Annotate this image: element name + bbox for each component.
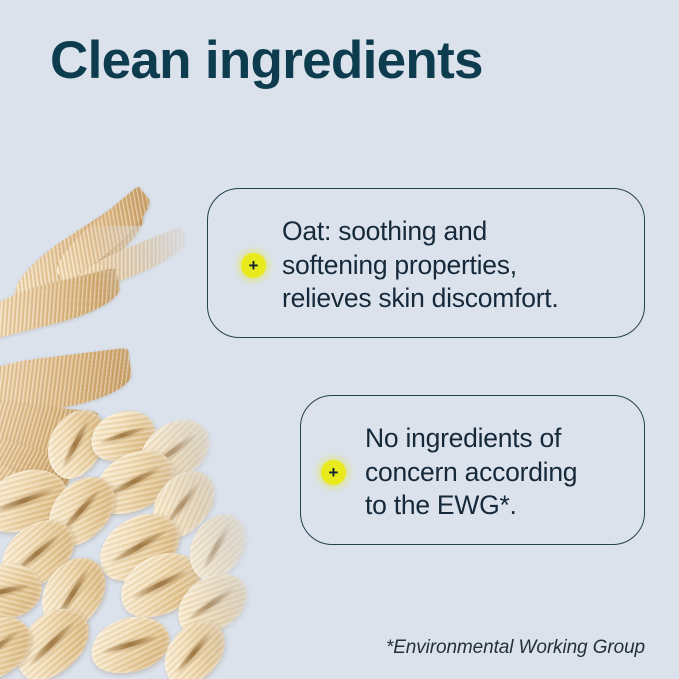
benefit-card-ewg-text: No ingredients of concern according to t… (365, 422, 577, 523)
plus-icon: + (321, 460, 346, 485)
plus-icon: + (241, 253, 266, 278)
benefit-card-oat: + Oat: soothing and softening properties… (207, 188, 645, 338)
footnote: *Environmental Working Group (386, 636, 645, 660)
benefit-card-oat-text: Oat: soothing and softening properties, … (282, 215, 559, 316)
benefit-card-ewg: + No ingredients of concern according to… (300, 395, 645, 545)
product-benefits-panel: Clean ingredients + Oat: soothing and so… (0, 0, 679, 679)
page-title: Clean ingredients (50, 30, 483, 92)
